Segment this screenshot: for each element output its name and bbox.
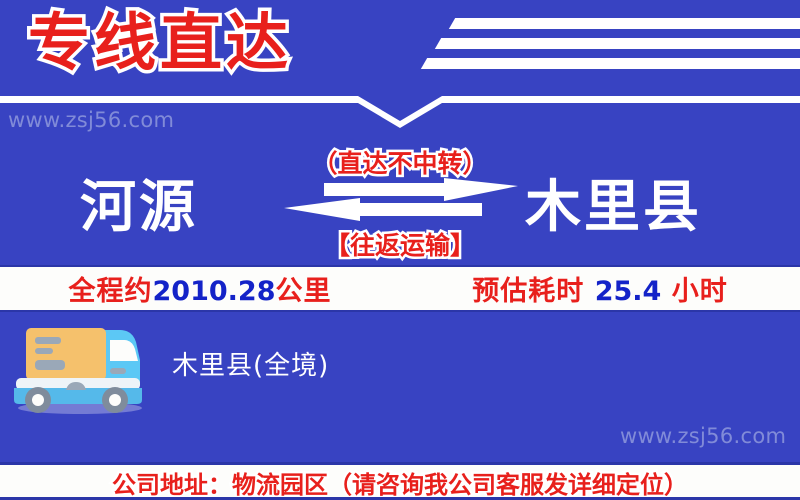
- duration-prefix: 预估耗时: [472, 276, 584, 307]
- watermark-top: www.zsj56.com: [8, 108, 174, 132]
- chevron-down-icon: [348, 96, 452, 128]
- divider-line-left: [0, 96, 352, 103]
- duration-metric: 预估耗时 25.4 小时: [400, 269, 800, 308]
- decorative-stripe: [421, 58, 800, 69]
- route-roundtrip-label: 【往返运输】: [280, 226, 520, 262]
- delivery-truck-icon: [8, 316, 158, 414]
- footer-address-bar: 公司地址：物流园区（请咨询我公司客服发详细定位）: [0, 462, 800, 500]
- coverage-area-label: 木里县(全境): [172, 345, 329, 382]
- distance-unit: 公里: [275, 276, 331, 307]
- origin-city: 河源: [80, 162, 198, 243]
- decorative-stripe: [435, 38, 800, 49]
- route-middle: （直达不中转） 【往返运输】: [280, 140, 520, 265]
- distance-prefix: 全程约: [69, 276, 153, 307]
- company-address: 公司地址：物流园区（请咨询我公司客服发详细定位）: [112, 465, 688, 500]
- metrics-band: 全程约2010.28公里 预估耗时 25.4 小时: [0, 265, 800, 312]
- route-row: 河源 （直达不中转） 【往返运输】 木里县: [0, 140, 800, 265]
- distance-value: 2010.28: [153, 276, 276, 307]
- destination-city: 木里县: [525, 162, 702, 243]
- duration-unit: 小时: [672, 276, 728, 307]
- watermark-bottom: www.zsj56.com: [620, 424, 786, 448]
- page-title: 专线直达: [28, 4, 292, 82]
- divider-line-right: [448, 96, 800, 103]
- duration-value: 25.4: [595, 276, 662, 307]
- distance-metric: 全程约2010.28公里: [0, 269, 400, 308]
- decorative-stripe: [449, 18, 800, 29]
- bidirectional-arrows-icon: [284, 178, 518, 224]
- logistics-route-poster: 专线直达 www.zsj56.com www.zsj56.com 河源 （直达不…: [0, 0, 800, 500]
- route-direct-label: （直达不中转）: [280, 144, 520, 180]
